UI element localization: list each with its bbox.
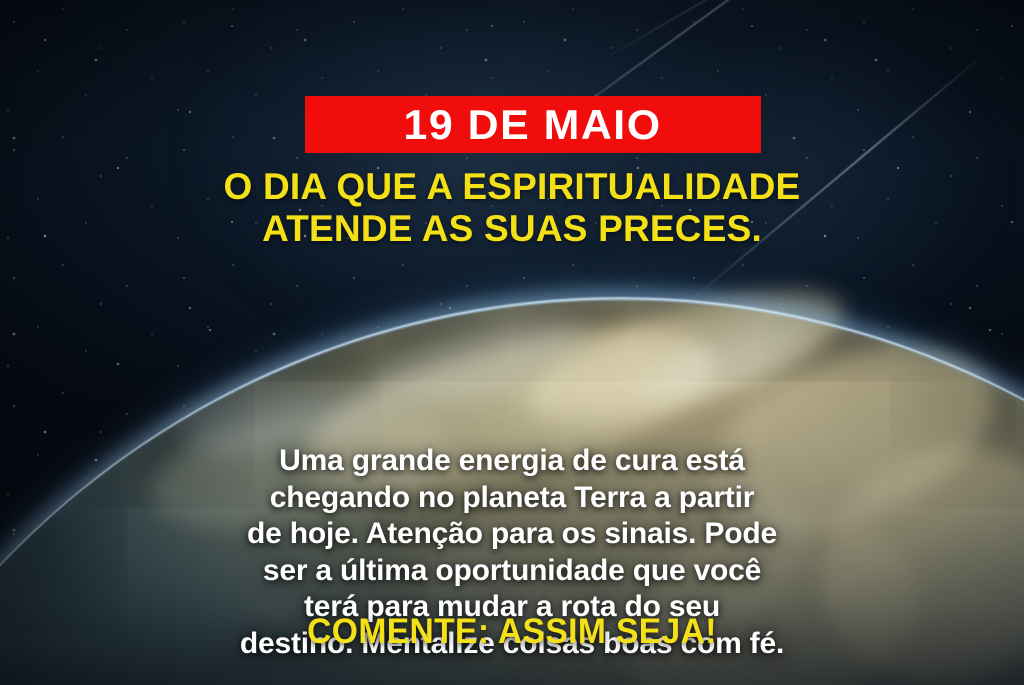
headline: O DIA QUE A ESPIRITUALIDADE ATENDE AS SU…	[0, 166, 1024, 250]
date-banner: 19 DE MAIO	[305, 96, 761, 153]
date-banner-label: 19 DE MAIO	[404, 104, 662, 146]
call-to-action: COMENTE: ASSIM SEJA!	[20, 613, 1003, 652]
body-copy-line-1: Uma grande energia de cura está	[52, 443, 972, 480]
poster-canvas: 19 DE MAIO O DIA QUE A ESPIRITUALIDADE A…	[0, 0, 1024, 685]
headline-line-1: O DIA QUE A ESPIRITUALIDADE	[40, 166, 984, 208]
headline-line-2: ATENDE AS SUAS PRECES.	[40, 208, 984, 250]
body-copy-line-4: ser a última oportunidade que você	[52, 553, 972, 590]
body-copy-line-2: chegando no planeta Terra a partir	[52, 480, 972, 517]
body-copy-line-3: de hoje. Atenção para os sinais. Pode	[52, 516, 972, 553]
poster-content: 19 DE MAIO O DIA QUE A ESPIRITUALIDADE A…	[0, 0, 1024, 685]
